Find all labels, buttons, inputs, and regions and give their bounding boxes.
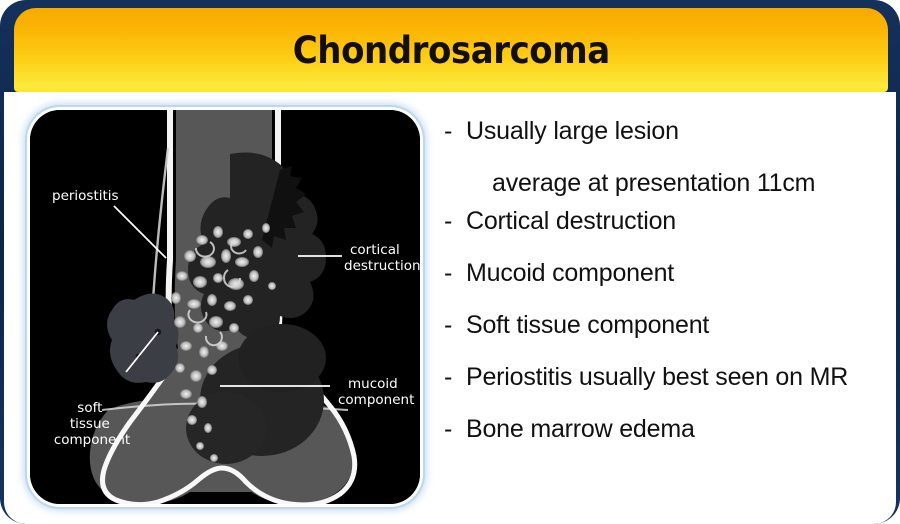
finding-text-0: Usually large lesion (466, 114, 679, 148)
radiology-figure-panel: periostitis cortical destruction soft ti… (30, 110, 420, 504)
finding-text-5: Bone marrow edema (466, 412, 695, 446)
bullet-marker: - (440, 256, 466, 290)
title-banner: Chondrosarcoma (14, 8, 888, 92)
slide: Chondrosarcoma (0, 0, 900, 524)
list-item: - Bone marrow edema (440, 412, 892, 464)
bullet-marker: - (440, 204, 466, 238)
femur-ct-illustration: periostitis cortical destruction soft ti… (30, 110, 420, 504)
finding-text-3: Soft tissue component (466, 308, 709, 342)
list-item: - Mucoid component (440, 256, 892, 308)
finding-text-2: Mucoid component (466, 256, 674, 290)
list-item: - Soft tissue component (440, 308, 892, 360)
list-item: - Periostitis usually best seen on MR (440, 360, 892, 412)
label-periostitis: periostitis (52, 188, 119, 204)
finding-continuation-0: average at presentation 11cm (492, 166, 892, 204)
bullet-marker: - (440, 360, 466, 394)
bullet-marker: - (440, 114, 466, 148)
bullet-marker: - (440, 308, 466, 342)
findings-list: - Usually large lesion average at presen… (440, 114, 892, 504)
list-item: - Cortical destruction (440, 204, 892, 256)
page-title: Chondrosarcoma (293, 32, 610, 69)
bullet-marker: - (440, 412, 466, 446)
finding-text-4: Periostitis usually best seen on MR (466, 360, 848, 394)
list-item: - Usually large lesion (440, 114, 892, 166)
finding-text-1: Cortical destruction (466, 204, 676, 238)
soft-tissue-component-region (107, 293, 179, 382)
